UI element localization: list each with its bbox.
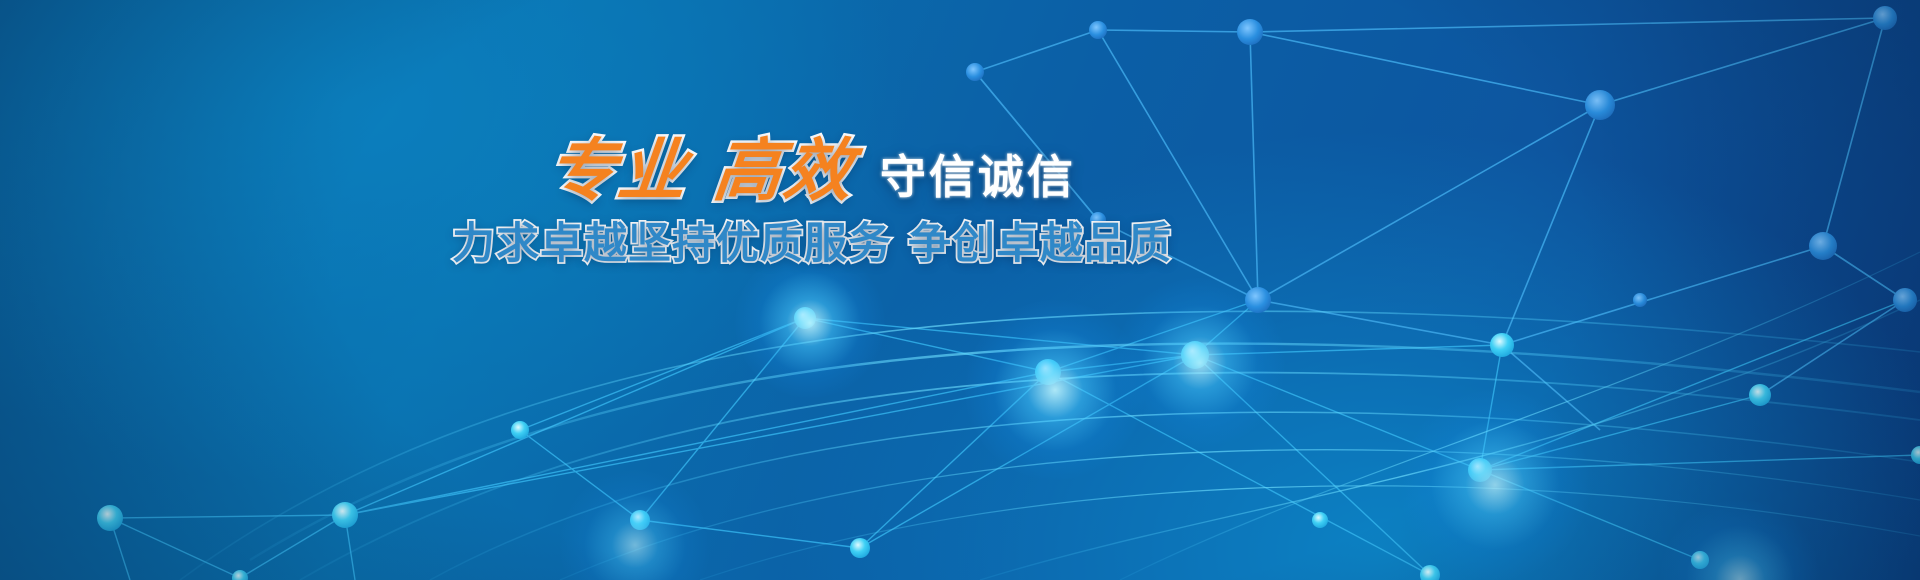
headline-plain-text: 守信诚信 [880,154,1076,206]
headline-accent-text: 专业 高效 [545,138,858,206]
hero-banner: 专业 高效 守信诚信 力求卓越坚持优质服务 争创卓越品质 [0,0,1920,580]
headline-row: 专业 高效 守信诚信 [452,138,1172,206]
slogan-block: 专业 高效 守信诚信 力求卓越坚持优质服务 争创卓越品质 [452,138,1172,268]
vignette-overlay [0,0,1920,580]
subheadline-text: 力求卓越坚持优质服务 争创卓越品质 [452,220,1172,268]
